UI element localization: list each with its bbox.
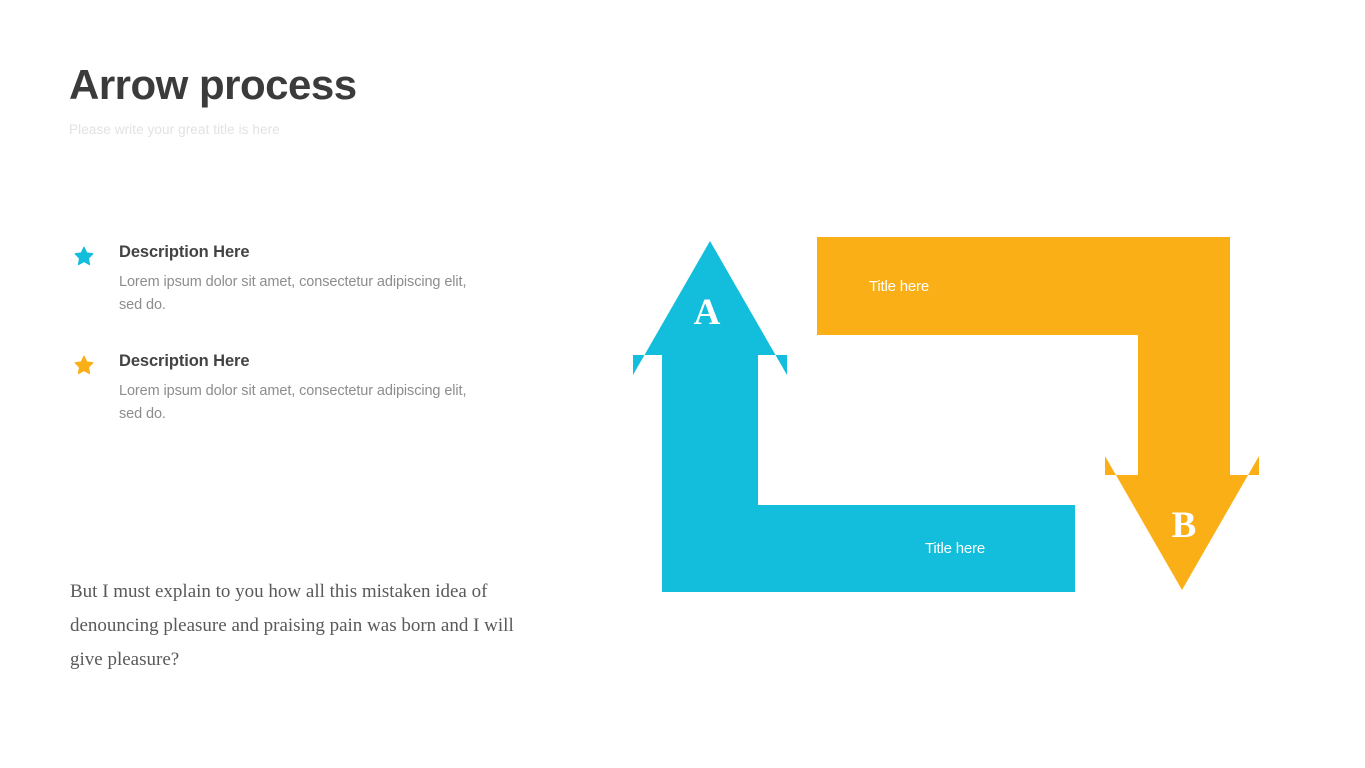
star-icon bbox=[74, 355, 94, 375]
arrow-b-letter: B bbox=[1172, 505, 1197, 546]
list-item: Description Here Lorem ipsum dolor sit a… bbox=[74, 352, 494, 427]
list-item-heading: Description Here bbox=[119, 352, 494, 371]
star-icon bbox=[74, 246, 94, 266]
page-subtitle: Please write your great title is here bbox=[69, 107, 669, 137]
list-item-body: Lorem ipsum dolor sit amet, consectetur … bbox=[119, 380, 479, 427]
arrow-a-title: Title here bbox=[925, 540, 985, 557]
slide-canvas: Arrow process Please write your great ti… bbox=[0, 0, 1365, 768]
slide-header: Arrow process Please write your great ti… bbox=[69, 63, 669, 137]
arrow-process-diagram: A Title here B Title here bbox=[620, 225, 1280, 610]
description-list: Description Here Lorem ipsum dolor sit a… bbox=[74, 243, 494, 461]
page-title: Arrow process bbox=[69, 63, 669, 107]
list-item-body: Lorem ipsum dolor sit amet, consectetur … bbox=[119, 271, 479, 318]
list-item: Description Here Lorem ipsum dolor sit a… bbox=[74, 243, 494, 318]
arrow-b-title: Title here bbox=[869, 278, 929, 295]
arrow-a-letter: A bbox=[694, 292, 721, 333]
diagram-svg: A Title here B Title here bbox=[620, 225, 1280, 610]
list-item-heading: Description Here bbox=[119, 243, 494, 262]
lead-paragraph: But I must explain to you how all this m… bbox=[70, 575, 540, 678]
